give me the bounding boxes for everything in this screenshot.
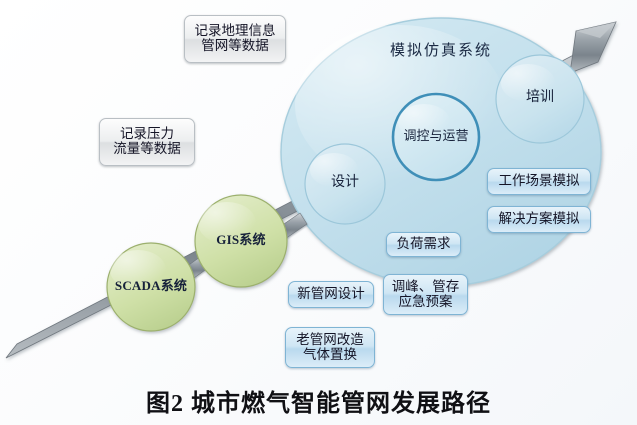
box-new-pipe-design[interactable]: 新管网设计 xyxy=(288,281,374,308)
box-solution-simulation[interactable]: 解决方案模拟 xyxy=(487,206,591,233)
blue-node-control-operation[interactable] xyxy=(393,94,479,180)
green-node-scada[interactable] xyxy=(107,243,195,331)
box-peak-storage-plan[interactable]: 调峰、管存 应急预案 xyxy=(383,274,468,315)
figure-caption: 图2 城市燃气智能管网发展路径 xyxy=(0,383,637,418)
blue-node-design[interactable] xyxy=(305,144,385,224)
box-geo-pipe-data[interactable]: 记录地理信息 管网等数据 xyxy=(184,15,286,63)
green-node-gis[interactable] xyxy=(195,195,287,287)
box-old-pipe-retrofit[interactable]: 老管网改造 气体置换 xyxy=(285,327,375,368)
blue-node-training[interactable] xyxy=(496,55,584,143)
diagram-canvas: 模拟仿真系统 SCADA系统 GIS系统 设计 调控与运营 培训 记录压力 流量… xyxy=(0,0,637,425)
box-pressure-flow-data[interactable]: 记录压力 流量等数据 xyxy=(99,118,195,166)
box-load-demand[interactable]: 负荷需求 xyxy=(386,232,461,257)
box-work-scene-simulation[interactable]: 工作场景模拟 xyxy=(487,168,591,195)
